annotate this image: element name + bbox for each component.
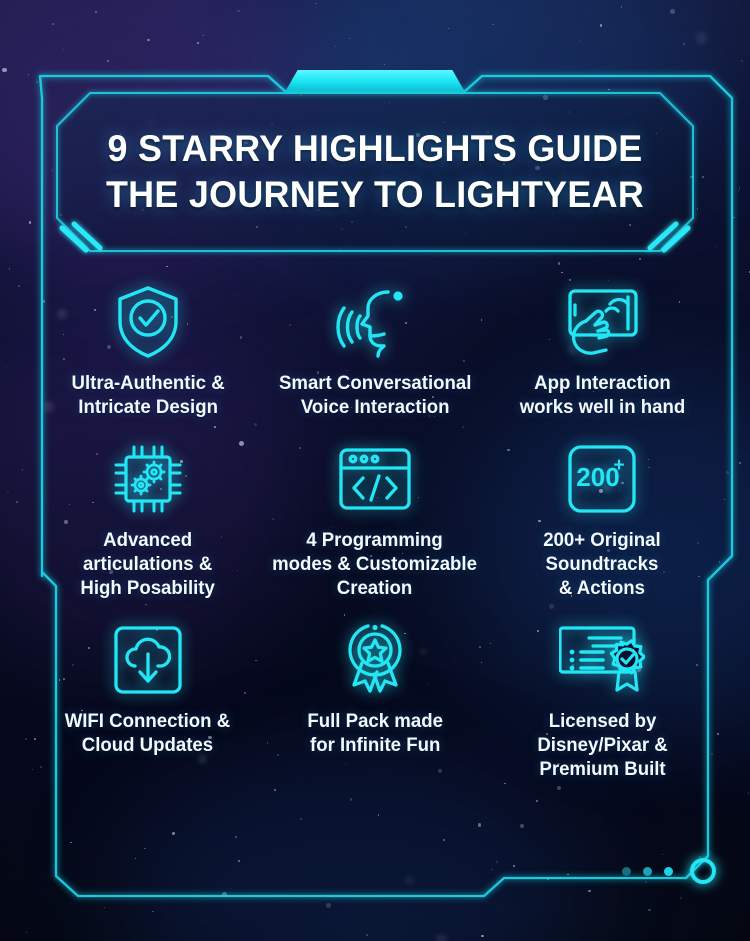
- hand-tablet-touch-icon: [489, 278, 716, 366]
- feature-item: Smart Conversational Voice Interaction: [261, 278, 488, 421]
- feature-caption: Advanced articulations & High Posability: [80, 529, 215, 602]
- title-panel: 9 STARRY HIGHLIGHTS GUIDE THE JOURNEY TO…: [56, 92, 694, 252]
- feature-item: Advanced articulations & High Posability: [34, 435, 261, 602]
- feature-item: App Interaction works well in hand: [489, 278, 716, 421]
- page-title: 9 STARRY HIGHLIGHTS GUIDE THE JOURNEY TO…: [66, 92, 685, 252]
- dot-mid-icon: [643, 867, 652, 876]
- feature-caption: App Interaction works well in hand: [520, 372, 686, 421]
- feature-caption: Licensed by Disney/Pixar & Premium Built: [537, 710, 667, 783]
- feature-item: Ultra-Authentic & Intricate Design: [34, 278, 261, 421]
- dot-dim-icon: [622, 867, 631, 876]
- nebula-glow: [120, 760, 580, 941]
- certificate-seal-icon: [489, 616, 716, 704]
- feature-grid: Ultra-Authentic & Intricate Design Smart…: [34, 278, 716, 783]
- top-notch-tab: [285, 70, 465, 92]
- feature-caption: 200+ Original Soundtracks & Actions: [544, 529, 661, 602]
- feature-item: Full Pack made for Infinite Fun: [261, 616, 488, 783]
- svg-text:+: +: [614, 455, 625, 476]
- footer-decoration: [622, 858, 716, 884]
- feature-caption: 4 Programming modes & Customizable Creat…: [273, 529, 478, 602]
- feature-item: 200 + 200+ Original Soundtracks & Action…: [489, 435, 716, 602]
- loading-ring-icon: [690, 858, 716, 884]
- shield-check-icon: [34, 278, 261, 366]
- feature-caption: Full Pack made for Infinite Fun: [307, 710, 443, 759]
- feature-caption: WIFI Connection & Cloud Updates: [65, 710, 230, 759]
- cloud-download-icon: [34, 616, 261, 704]
- feature-caption: Ultra-Authentic & Intricate Design: [71, 372, 224, 421]
- poster-canvas: 9 STARRY HIGHLIGHTS GUIDE THE JOURNEY TO…: [0, 0, 750, 941]
- feature-caption: Smart Conversational Voice Interaction: [279, 372, 471, 421]
- count-200-plus-icon: 200 +: [489, 435, 716, 523]
- speaking-head-icon: [261, 278, 488, 366]
- feature-item: WIFI Connection & Cloud Updates: [34, 616, 261, 783]
- code-window-icon: [261, 435, 488, 523]
- title-line-1: 9 STARRY HIGHLIGHTS GUIDE: [107, 127, 642, 171]
- chip-gears-icon: [34, 435, 261, 523]
- feature-item: 4 Programming modes & Customizable Creat…: [261, 435, 488, 602]
- dot-bright-icon: [664, 867, 673, 876]
- feature-item: Licensed by Disney/Pixar & Premium Built: [489, 616, 716, 783]
- title-line-2: THE JOURNEY TO LIGHTYEAR: [106, 173, 644, 217]
- award-medal-star-icon: [261, 616, 488, 704]
